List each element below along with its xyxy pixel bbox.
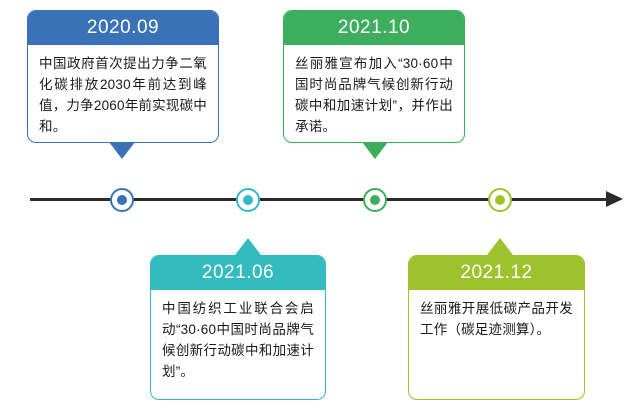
card-date-label: 2021.06 [151, 256, 325, 290]
card-pointer-2021-12 [487, 238, 513, 255]
timeline-card-2021-06[interactable]: 2021.06 中国纺织工业联合会启动“30·60中国时尚品牌气候创新行动碳中和… [150, 255, 326, 400]
card-body-text: 中国政府首次提出力争二氧化碳排放2030年前达到峰值，力争2060年前实现碳中和… [28, 45, 218, 143]
card-date-label: 2021.10 [284, 11, 464, 45]
card-body-text: 中国纺织工业联合会启动“30·60中国时尚品牌气候创新行动碳中和加速计划”。 [151, 290, 325, 391]
card-date-label: 2020.09 [28, 11, 218, 45]
card-pointer-2021-10 [362, 142, 388, 159]
marker-dot-icon [117, 195, 127, 205]
card-body-text: 丝丽雅开展低碳产品开发工作（碳足迹测算）。 [409, 290, 584, 349]
marker-dot-icon [495, 195, 505, 205]
marker-dot-icon [370, 195, 380, 205]
timeline-marker-2021-12[interactable] [488, 188, 512, 212]
card-pointer-2021-06 [235, 238, 261, 255]
timeline-marker-2020-09[interactable] [110, 188, 134, 212]
card-body-text: 丝丽雅宣布加入“30·60中国时尚品牌气候创新行动碳中和加速计划”，并作出承诺。 [284, 45, 464, 143]
card-date-label: 2021.12 [409, 256, 584, 290]
timeline-card-2021-10[interactable]: 2021.10 丝丽雅宣布加入“30·60中国时尚品牌气候创新行动碳中和加速计划… [283, 10, 465, 143]
arrow-right-icon [606, 191, 623, 207]
timeline-marker-2021-06[interactable] [236, 188, 260, 212]
timeline-card-2021-12[interactable]: 2021.12 丝丽雅开展低碳产品开发工作（碳足迹测算）。 [408, 255, 585, 400]
card-pointer-2020-09 [109, 142, 135, 159]
timeline-infographic: 2020.09 中国政府首次提出力争二氧化碳排放2030年前达到峰值，力争206… [0, 0, 640, 412]
timeline-card-2020-09[interactable]: 2020.09 中国政府首次提出力争二氧化碳排放2030年前达到峰值，力争206… [27, 10, 219, 143]
marker-dot-icon [243, 195, 253, 205]
timeline-marker-2021-10[interactable] [363, 188, 387, 212]
